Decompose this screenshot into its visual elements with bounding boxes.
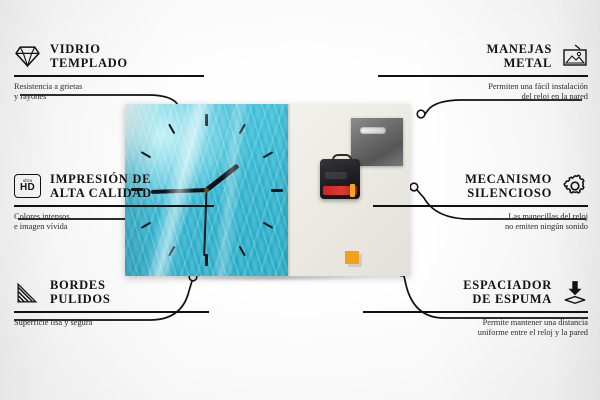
divider	[378, 75, 588, 77]
feature-description: Permiten una fácil instalación del reloj…	[378, 82, 588, 103]
divider	[363, 311, 588, 313]
infographic-canvas: VIDRIO TEMPLADO Resistencia a grietas y …	[0, 0, 600, 400]
feature-title: MANEJAS METAL	[487, 42, 552, 70]
clock-tick	[207, 189, 283, 191]
feature-title: IMPRESIÓN DE ALTA CALIDAD	[50, 172, 152, 200]
feature-description: Resistencia a grietas y rayones	[14, 82, 204, 103]
feature-title: BORDES PULIDOS	[50, 278, 110, 306]
feature-title: VIDRIO TEMPLADO	[50, 42, 128, 70]
feature-vidrio-templado: VIDRIO TEMPLADO Resistencia a grietas y …	[14, 42, 204, 103]
feature-title: ESPACIADOR DE ESPUMA	[463, 278, 552, 306]
gear-icon	[561, 173, 588, 200]
clock-tick	[206, 189, 273, 229]
clock-tick	[206, 151, 273, 191]
feature-description: Colores intensos e imagen vívida	[14, 212, 214, 233]
feature-impresion-alta-calidad: ultra HD IMPRESIÓN DE ALTA CALIDAD Color…	[14, 172, 214, 233]
feature-manejas-metal: MANEJAS METAL Permiten una fácil instala…	[378, 42, 588, 103]
feature-title: MECANISMO SILENCIOSO	[465, 172, 552, 200]
feature-description: Superficie lisa y segura	[14, 318, 209, 329]
feature-espaciador-de-espuma: ESPACIADOR DE ESPUMA Permite mantener un…	[363, 278, 588, 339]
polished-edge-icon	[14, 279, 41, 306]
metal-hanger	[351, 118, 403, 166]
divider	[14, 205, 214, 207]
foam-spacer-icon	[561, 279, 588, 306]
feature-bordes-pulidos: BORDES PULIDOS Superficie lisa y segura	[14, 278, 209, 328]
hanger-loop	[332, 154, 352, 164]
ultra-hd-icon: ultra HD	[14, 173, 41, 200]
feature-description: Las manecillas del reloj no emiten ningú…	[373, 212, 588, 233]
mechanism-slot	[325, 172, 347, 179]
foam-spacer	[345, 251, 359, 264]
diamond-icon	[14, 43, 41, 70]
battery	[323, 186, 357, 195]
feature-mecanismo-silencioso: MECANISMO SILENCIOSO Las manecillas del …	[373, 172, 588, 233]
wall-hanger-icon	[561, 43, 588, 70]
divider	[14, 75, 204, 77]
divider	[14, 311, 209, 313]
feature-description: Permite mantener una distancia uniforme …	[363, 318, 588, 339]
ultra-hd-large-label: HD	[20, 183, 35, 193]
clock-mechanism	[320, 159, 360, 199]
divider	[373, 205, 588, 207]
